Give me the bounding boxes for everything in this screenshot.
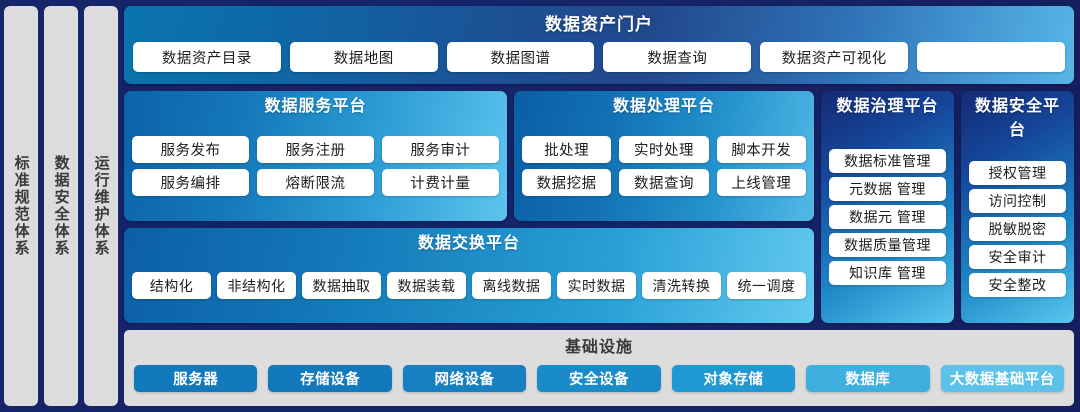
portal-title: 数据资产门户: [133, 12, 1065, 38]
panel-data-processing-platform: 数据处理平台 批处理 实时处理 脚本开发 数据挖据 数据查询 上线管理: [514, 91, 814, 221]
platform-band: 数据服务平台 服务发布 服务注册 服务审计 服务编排 熔断限流 计费计量 数据处…: [124, 91, 1074, 323]
portal-items-row: 数据资产目录 数据地图 数据图谱 数据查询 数据资产可视化: [133, 42, 1065, 72]
panel-data-governance-platform-items: 数据标准管理 元数据 管理 数据元 管理 数据质量管理 知识库 管理: [829, 119, 946, 315]
panel-data-processing-platform-items: 批处理 实时处理 脚本开发 数据挖据 数据查询 上线管理: [522, 119, 806, 213]
governance-item-data-quality[interactable]: 数据质量管理: [829, 233, 946, 257]
vertical-panel-data-security[interactable]: 数据安全体系: [44, 6, 78, 406]
vertical-panel-standards[interactable]: 标准规范体系: [4, 6, 38, 406]
main-column: 数据资产门户 数据资产目录 数据地图 数据图谱 数据查询 数据资产可视化 数据服…: [124, 4, 1076, 408]
infrastructure-items-row: 服务器 存储设备 网络设备 安全设备 对象存储 数据库 大数据基础平台: [134, 365, 1064, 392]
left-systems-rail: 标准规范体系 数据安全体系 运行维护体系: [4, 4, 118, 408]
exchange-item-load[interactable]: 数据装载: [387, 272, 466, 299]
processing-item-mining[interactable]: 数据挖据: [522, 169, 611, 196]
security-item-security-audit[interactable]: 安全审计: [969, 245, 1066, 269]
service-item-circuit-breaker[interactable]: 熔断限流: [257, 169, 374, 196]
processing-item-query[interactable]: 数据查询: [619, 169, 708, 196]
service-item-audit[interactable]: 服务审计: [382, 136, 499, 163]
panel-data-exchange-platform-items: 结构化 非结构化 数据抽取 数据装载 离线数据 实时数据 清洗转换 统一调度: [132, 256, 806, 315]
vertical-panel-data-security-label: 数据安全体系: [52, 155, 69, 257]
architecture-diagram: 标准规范体系 数据安全体系 运行维护体系 数据资产门户 数据资产目录 数据地图 …: [0, 0, 1080, 412]
portal-item-visualization[interactable]: 数据资产可视化: [760, 42, 908, 72]
exchange-item-offline-data[interactable]: 离线数据: [472, 272, 551, 299]
processing-item-batch[interactable]: 批处理: [522, 136, 611, 163]
security-item-rectification[interactable]: 安全整改: [969, 273, 1066, 297]
governance-item-data-standard[interactable]: 数据标准管理: [829, 149, 946, 173]
panel-data-security-platform-items: 授权管理 访问控制 脱敏脱密 安全审计 安全整改: [969, 143, 1066, 315]
panel-data-service-platform: 数据服务平台 服务发布 服务注册 服务审计 服务编排 熔断限流 计费计量: [124, 91, 507, 221]
panel-data-exchange-platform-title: 数据交换平台: [132, 232, 806, 256]
portal-item-graph[interactable]: 数据图谱: [447, 42, 595, 72]
panel-data-governance-platform: 数据治理平台 数据标准管理 元数据 管理 数据元 管理 数据质量管理 知识库 管…: [821, 91, 954, 323]
governance-item-knowledge-base[interactable]: 知识库 管理: [829, 261, 946, 285]
exchange-item-realtime-data[interactable]: 实时数据: [557, 272, 636, 299]
exchange-item-extract[interactable]: 数据抽取: [302, 272, 381, 299]
panel-data-governance-platform-title: 数据治理平台: [829, 95, 946, 119]
governance-item-data-element[interactable]: 数据元 管理: [829, 205, 946, 229]
infrastructure-title: 基础设施: [134, 335, 1064, 361]
portal-item-query[interactable]: 数据查询: [603, 42, 751, 72]
panel-data-processing-platform-title: 数据处理平台: [522, 95, 806, 119]
infra-item-storage[interactable]: 存储设备: [268, 365, 391, 392]
governance-item-metadata[interactable]: 元数据 管理: [829, 177, 946, 201]
infra-item-server[interactable]: 服务器: [134, 365, 257, 392]
infra-item-object-storage[interactable]: 对象存储: [672, 365, 795, 392]
service-item-publish[interactable]: 服务发布: [132, 136, 249, 163]
exchange-item-unstructured[interactable]: 非结构化: [217, 272, 296, 299]
processing-item-release-mgmt[interactable]: 上线管理: [717, 169, 806, 196]
platform-band-left-top: 数据服务平台 服务发布 服务注册 服务审计 服务编排 熔断限流 计费计量 数据处…: [124, 91, 814, 221]
vertical-panel-standards-label: 标准规范体系: [12, 155, 29, 257]
panel-data-security-platform-title: 数据安全平台: [969, 95, 1066, 143]
service-item-orchestration[interactable]: 服务编排: [132, 169, 249, 196]
security-item-authorization[interactable]: 授权管理: [969, 161, 1066, 185]
security-item-desensitization[interactable]: 脱敏脱密: [969, 217, 1066, 241]
security-item-access-control[interactable]: 访问控制: [969, 189, 1066, 213]
infra-item-bigdata-platform[interactable]: 大数据基础平台: [941, 365, 1064, 392]
panel-data-security-platform: 数据安全平台 授权管理 访问控制 脱敏脱密 安全审计 安全整改: [961, 91, 1074, 323]
vertical-panel-operations-label: 运行维护体系: [92, 155, 109, 257]
panel-data-service-platform-items: 服务发布 服务注册 服务审计 服务编排 熔断限流 计费计量: [132, 119, 499, 213]
portal-section: 数据资产门户 数据资产目录 数据地图 数据图谱 数据查询 数据资产可视化: [124, 6, 1074, 84]
exchange-item-scheduling[interactable]: 统一调度: [727, 272, 806, 299]
service-item-billing[interactable]: 计费计量: [382, 169, 499, 196]
portal-item-map[interactable]: 数据地图: [290, 42, 438, 72]
panel-data-service-platform-title: 数据服务平台: [132, 95, 499, 119]
infra-item-security-device[interactable]: 安全设备: [537, 365, 660, 392]
infra-item-network[interactable]: 网络设备: [403, 365, 526, 392]
vertical-panel-operations[interactable]: 运行维护体系: [84, 6, 118, 406]
exchange-item-structured[interactable]: 结构化: [132, 272, 211, 299]
portal-item-empty[interactable]: [917, 42, 1065, 72]
infrastructure-section: 基础设施 服务器 存储设备 网络设备 安全设备 对象存储 数据库 大数据基础平台: [124, 330, 1074, 406]
panel-data-exchange-platform: 数据交换平台 结构化 非结构化 数据抽取 数据装载 离线数据 实时数据 清洗转换…: [124, 228, 814, 323]
portal-item-catalog[interactable]: 数据资产目录: [133, 42, 281, 72]
service-item-register[interactable]: 服务注册: [257, 136, 374, 163]
infra-item-database[interactable]: 数据库: [806, 365, 929, 392]
processing-item-script-dev[interactable]: 脚本开发: [717, 136, 806, 163]
platform-band-left: 数据服务平台 服务发布 服务注册 服务审计 服务编排 熔断限流 计费计量 数据处…: [124, 91, 814, 323]
processing-item-realtime[interactable]: 实时处理: [619, 136, 708, 163]
exchange-item-cleansing[interactable]: 清洗转换: [642, 272, 721, 299]
